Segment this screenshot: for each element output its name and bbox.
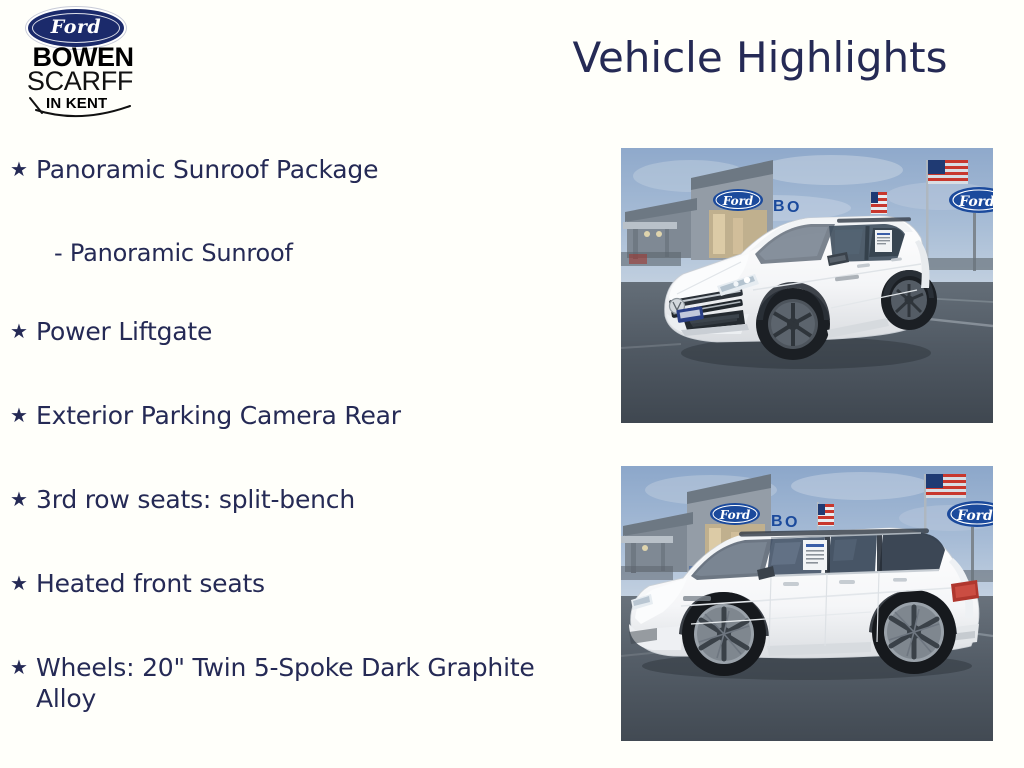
list-item: ★ Wheels: 20" Twin 5-Spoke Dark Graphite…: [10, 652, 570, 714]
logo-line-scarff: SCARFF: [16, 68, 144, 95]
page-title: Vehicle Highlights: [520, 36, 1000, 80]
list-item: ★ Power Liftgate: [10, 316, 570, 347]
star-icon: ★: [10, 400, 36, 431]
list-item-label: Panoramic Sunroof Package: [36, 154, 378, 185]
vehicle-photo-front-three-quarter: Ford B O Ford: [621, 148, 993, 423]
dealer-logo: Ford BOWEN SCARFF IN KENT: [8, 4, 158, 122]
list-item-sub: - Panoramic Sunroof: [10, 238, 570, 269]
vehicle-photo-side-profile: Ford B O Ford: [621, 466, 993, 741]
svg-text:Ford: Ford: [722, 194, 754, 208]
list-item-label: Power Liftgate: [36, 316, 212, 347]
star-icon: ★: [10, 316, 36, 347]
svg-text:O: O: [785, 514, 797, 531]
list-item: ★ Heated front seats: [10, 568, 570, 599]
list-item-label: Exterior Parking Camera Rear: [36, 400, 401, 431]
list-item-label: Wheels: 20" Twin 5-Spoke Dark Graphite A…: [36, 652, 536, 714]
list-item: ★ Panoramic Sunroof Package: [10, 154, 570, 185]
star-icon: ★: [10, 484, 36, 515]
svg-text:Ford: Ford: [958, 194, 993, 210]
svg-text:B: B: [773, 198, 785, 215]
list-item: ★ Exterior Parking Camera Rear: [10, 400, 570, 431]
logo-line-in-kent: IN KENT: [46, 96, 107, 111]
list-item-label: 3rd row seats: split-bench: [36, 484, 355, 515]
vehicle-highlights-list: ★ Panoramic Sunroof Package - Panoramic …: [10, 154, 570, 767]
svg-text:Ford: Ford: [956, 508, 993, 524]
ford-wordmark: Ford: [51, 18, 101, 37]
ford-oval-inner-ring: Ford: [32, 13, 120, 43]
list-item-label: Heated front seats: [36, 568, 265, 599]
star-icon: ★: [10, 568, 36, 599]
svg-text:B: B: [771, 513, 783, 530]
svg-text:O: O: [787, 199, 799, 216]
list-item-sub-label: - Panoramic Sunroof: [36, 238, 293, 269]
svg-text:Ford: Ford: [719, 508, 751, 522]
star-icon: ★: [10, 154, 36, 185]
star-icon: ★: [10, 652, 36, 683]
list-item: ★ 3rd row seats: split-bench: [10, 484, 570, 515]
